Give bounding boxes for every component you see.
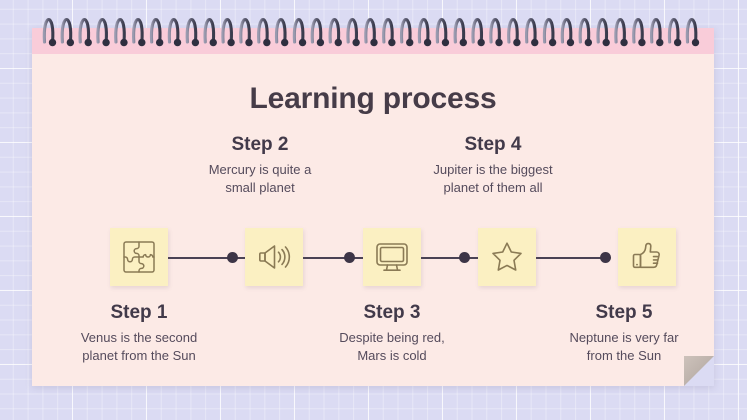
timeline-node-dot-4: [459, 252, 470, 263]
step-text-3: Step 3 Despite being red, Mars is cold: [282, 302, 502, 366]
notebook-pink-band: [32, 28, 714, 54]
step-text-4: Step 4 Jupiter is the biggest planet of …: [393, 134, 593, 198]
step-desc-1: Venus is the second planet from the Sun: [29, 329, 249, 366]
page-fold-corner: [684, 356, 714, 386]
step-text-2: Step 2 Mercury is quite a small planet: [160, 134, 360, 198]
step-desc-3: Despite being red, Mars is cold: [282, 329, 502, 366]
step-desc-4-line1: Jupiter is the biggest: [393, 161, 593, 179]
star-icon: [489, 239, 525, 275]
step-icon-box-3[interactable]: [363, 228, 421, 286]
step-icon-box-4[interactable]: [478, 228, 536, 286]
step-desc-2-line2: small planet: [160, 179, 360, 197]
timeline-node-dot-5: [600, 252, 611, 263]
step-desc-1-line2: planet from the Sun: [29, 347, 249, 365]
page-title: Learning process: [32, 82, 714, 116]
step-icon-box-5[interactable]: [618, 228, 676, 286]
step-title-1: Step 1: [29, 302, 249, 324]
timeline-node-dot-3: [344, 252, 355, 263]
step-desc-1-line1: Venus is the second: [29, 329, 249, 347]
step-title-2: Step 2: [160, 134, 360, 156]
step-desc-3-line2: Mars is cold: [282, 347, 502, 365]
step-desc-4: Jupiter is the biggest planet of them al…: [393, 161, 593, 198]
speaker-icon: [256, 239, 292, 275]
step-title-5: Step 5: [514, 302, 734, 324]
timeline-node-dot-2: [227, 252, 238, 263]
step-desc-2: Mercury is quite a small planet: [160, 161, 360, 198]
step-desc-2-line1: Mercury is quite a: [160, 161, 360, 179]
step-desc-5-line1: Neptune is very far: [514, 329, 734, 347]
step-title-3: Step 3: [282, 302, 502, 324]
timeline: [32, 222, 714, 294]
monitor-icon: [374, 239, 410, 275]
thumbs-up-icon: [629, 239, 665, 275]
page-fold-cut: [684, 356, 714, 386]
step-desc-3-line1: Despite being red,: [282, 329, 502, 347]
step-desc-4-line2: planet of them all: [393, 179, 593, 197]
step-title-4: Step 4: [393, 134, 593, 156]
puzzle-icon: [121, 239, 157, 275]
step-text-1: Step 1 Venus is the second planet from t…: [29, 302, 249, 366]
step-icon-box-1[interactable]: [110, 228, 168, 286]
step-icon-box-2[interactable]: [245, 228, 303, 286]
notebook-card: Learning process Step 2 Mercury is quite…: [32, 28, 714, 386]
